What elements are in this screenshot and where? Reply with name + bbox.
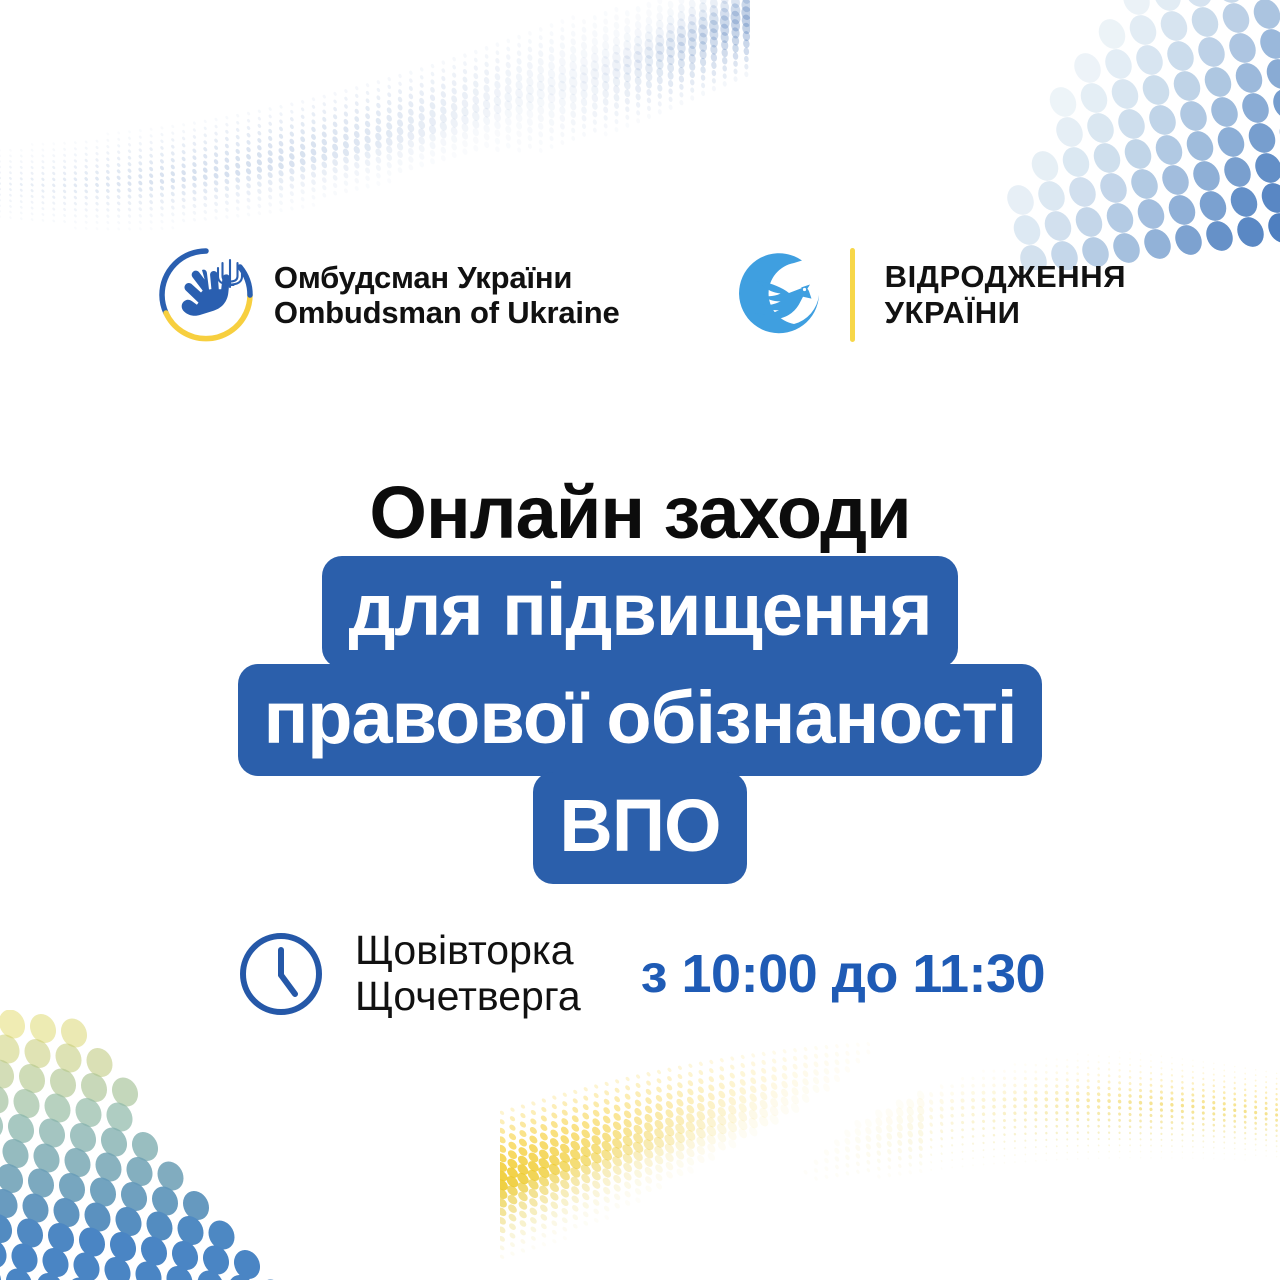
decoration-top-right-dots <box>950 0 1280 270</box>
schedule-time-range: з 10:00 до 11:30 <box>641 943 1045 1005</box>
logo-divider <box>850 248 855 342</box>
schedule-days: Щовівторка Щочетверга <box>355 928 581 1020</box>
vidrodzhennya-ukrainy-logo: ВІДРОДЖЕННЯ УКРАЇНИ <box>732 247 1127 343</box>
phoenix-bird-icon <box>732 247 828 343</box>
ombudsman-hand-dove-trident-icon <box>154 243 258 347</box>
logo-row: Омбудсман України Ombudsman of Ukraine <box>0 243 1280 347</box>
headline-line-2: для підвищення <box>322 556 957 668</box>
schedule-day-2: Щочетверга <box>355 974 581 1020</box>
decoration-bottom-left-dots <box>0 1010 370 1280</box>
headline-line-1: Онлайн заходи <box>369 476 910 554</box>
headline-line-3: правової обізнаності <box>238 664 1043 776</box>
vidrodzhennya-line-2: УКРАЇНИ <box>885 295 1127 331</box>
schedule-day-1: Щовівторка <box>355 928 581 974</box>
schedule-block: Щовівторка Щочетверга з 10:00 до 11:30 <box>0 928 1280 1020</box>
ombudsman-logo: Омбудсман України Ombudsman of Ukraine <box>154 243 620 347</box>
ombudsman-wordmark: Омбудсман України Ombudsman of Ukraine <box>274 260 620 331</box>
ombudsman-name-uk: Омбудсман України <box>274 260 620 295</box>
decoration-bottom-right-wave <box>500 1000 1280 1280</box>
vidrodzhennya-wordmark: ВІДРОДЖЕННЯ УКРАЇНИ <box>885 259 1127 331</box>
headline-line-4: ВПО <box>533 772 746 884</box>
clock-icon <box>235 928 327 1020</box>
vidrodzhennya-line-1: ВІДРОДЖЕННЯ <box>885 259 1127 295</box>
poster-canvas: Омбудсман України Ombudsman of Ukraine <box>0 0 1280 1280</box>
headline-block: Онлайн заходи для підвищення правової об… <box>0 476 1280 884</box>
ombudsman-name-en: Ombudsman of Ukraine <box>274 295 620 330</box>
